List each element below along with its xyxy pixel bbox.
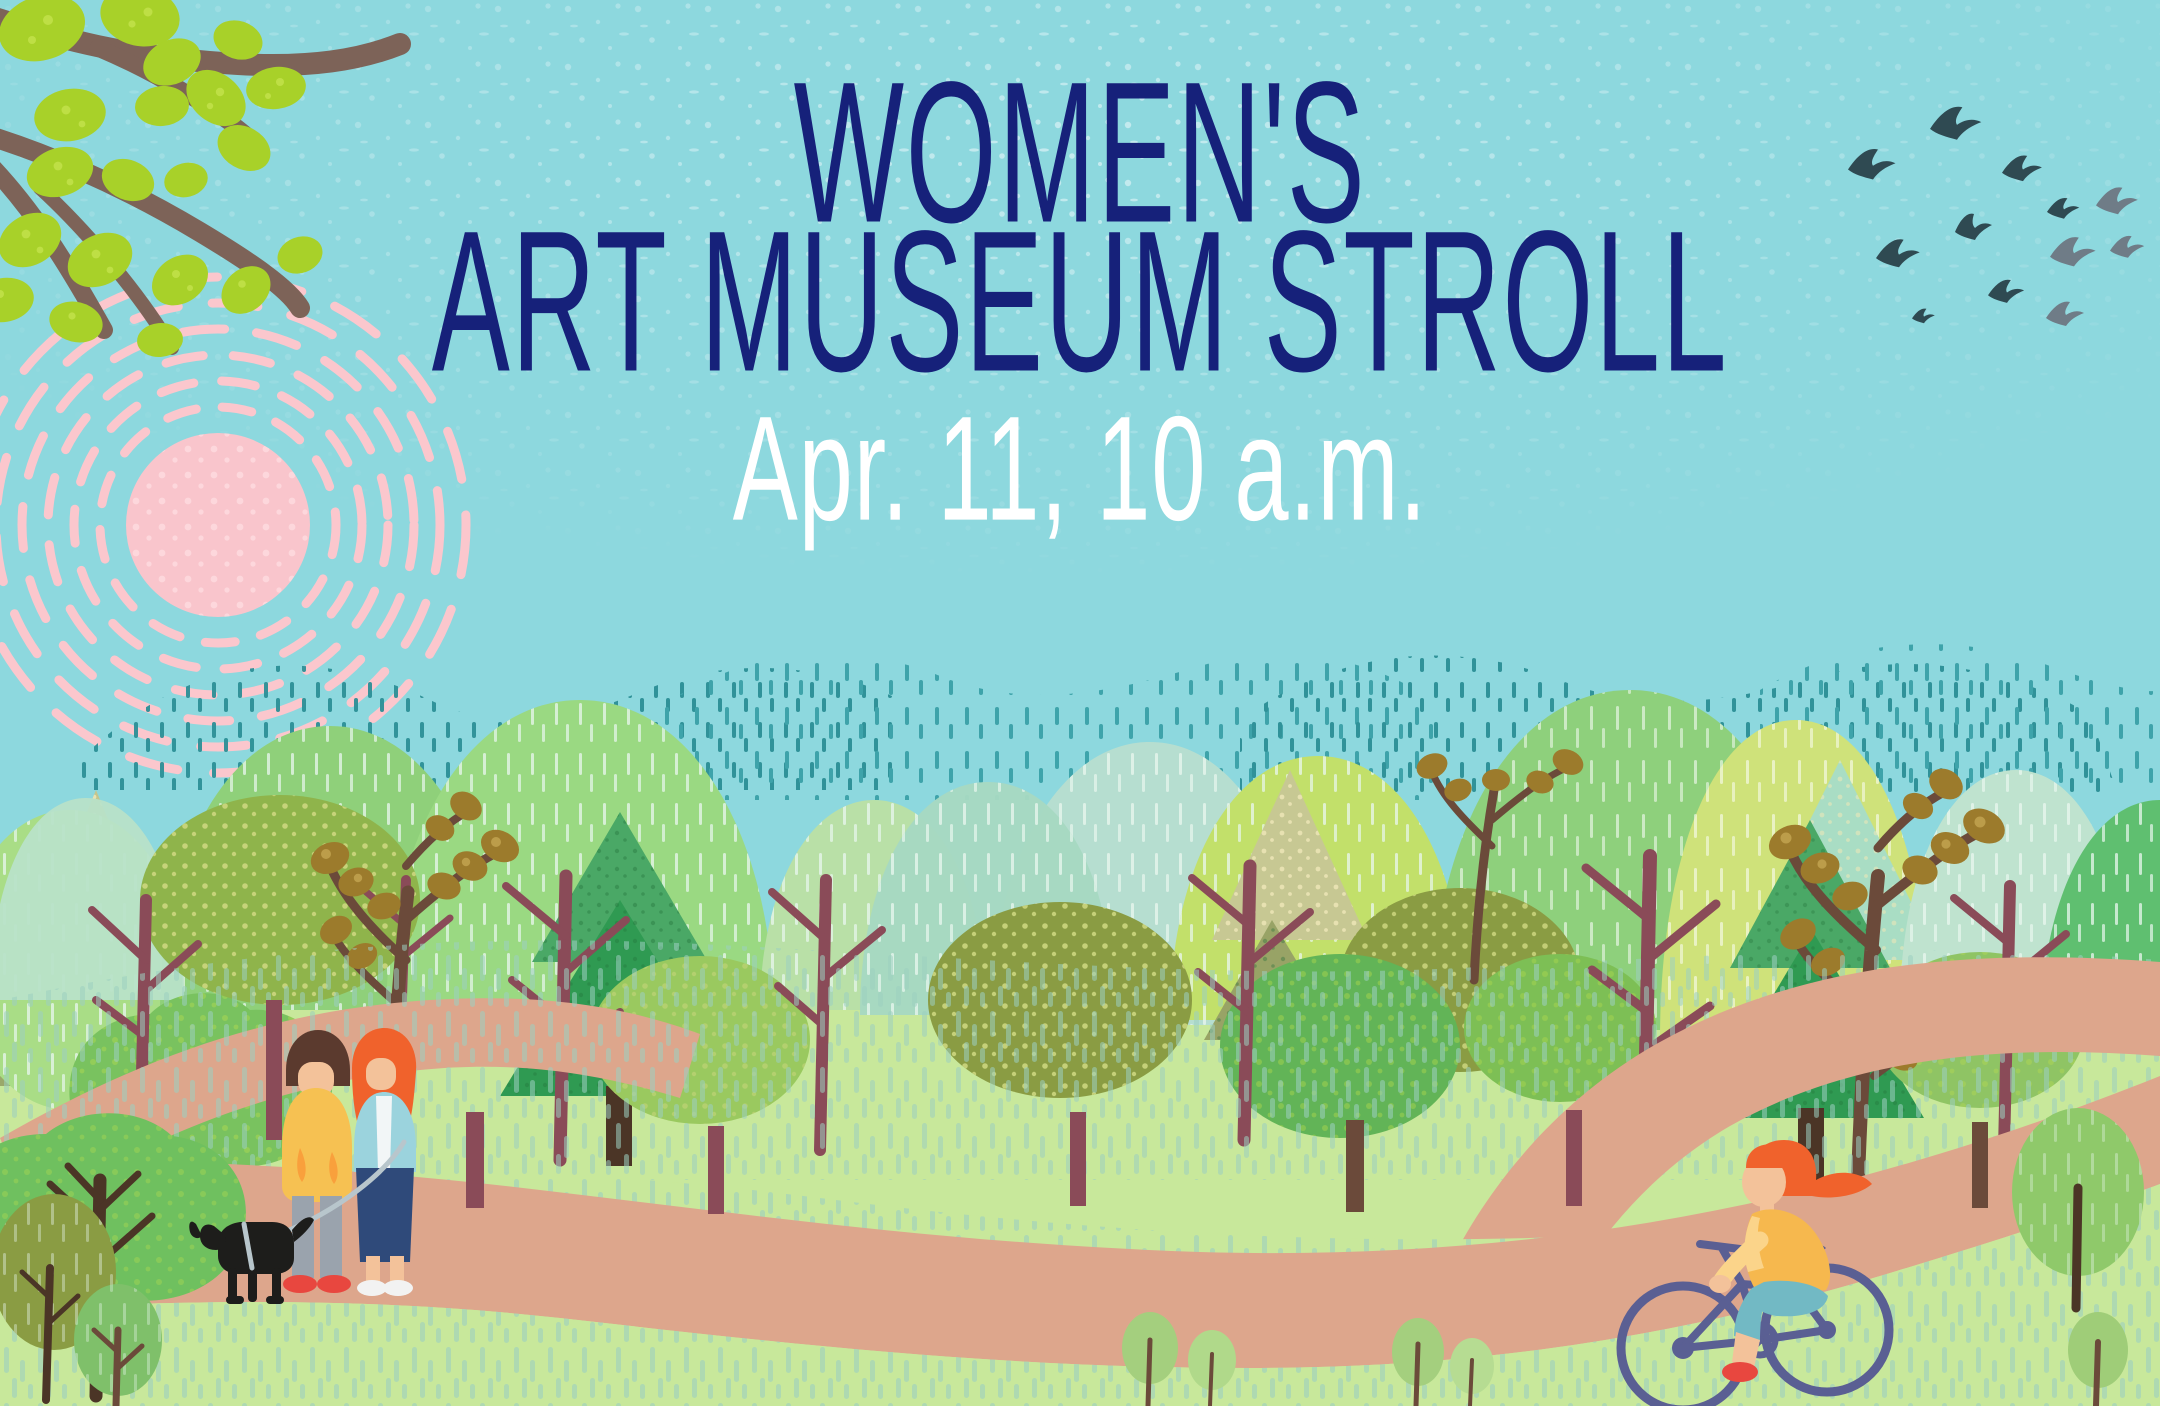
cyclist-figure bbox=[0, 0, 2160, 1406]
event-poster: WOMEN'S ART MUSEUM STROLL Apr. 11, 10 a.… bbox=[0, 0, 2160, 1406]
